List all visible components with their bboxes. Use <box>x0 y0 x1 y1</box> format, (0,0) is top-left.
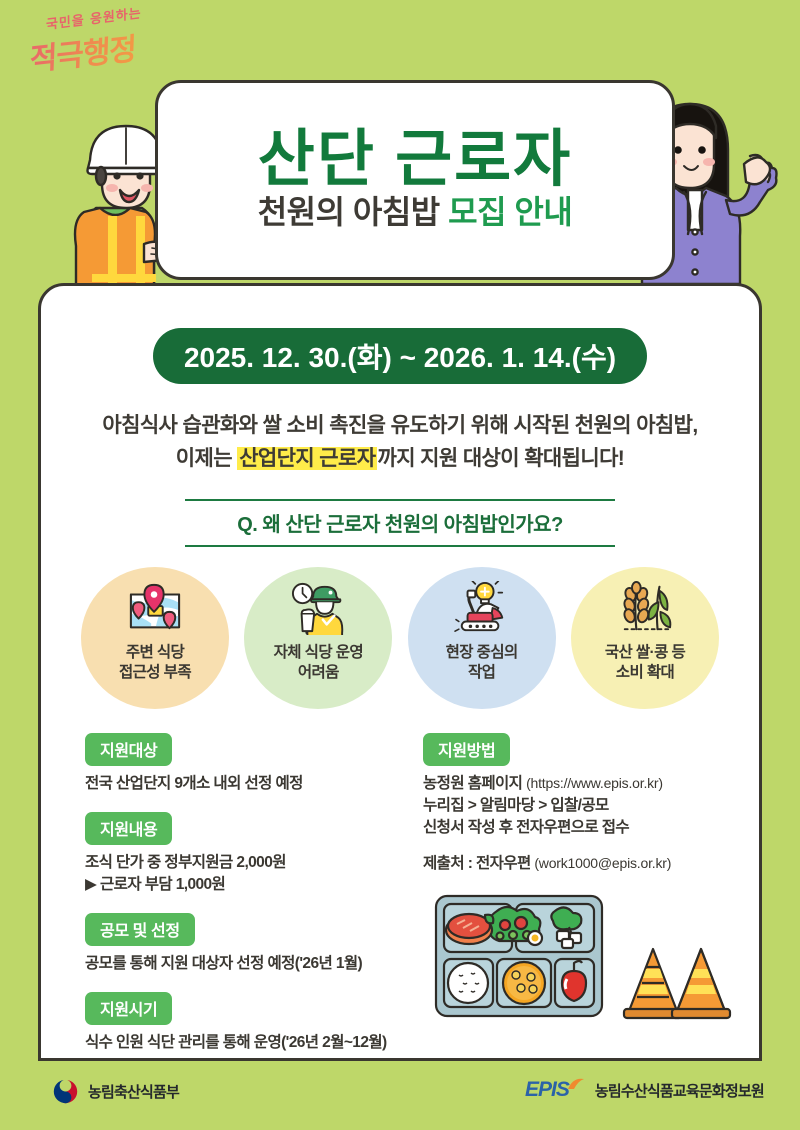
reason-label: 자체 식당 운영 어려움 <box>274 643 363 683</box>
poster-root: 국민을 응원하는 적극행정 <box>0 0 800 1130</box>
info-text-target: 전국 산업단지 9개소 내외 선정 예정 <box>85 773 401 795</box>
info-block-selection: 공모 및 선정 공모를 통해 지원 대상자 선정 예정('26년 1월) <box>85 913 401 975</box>
reason-label-line1: 주변 식당 <box>126 644 184 661</box>
info-line: 식수 인원 식단 관리를 통해 운영('26년 2월~12월) <box>85 1032 401 1054</box>
info-line: 조식 단가 중 정부지원금 2,000원 <box>85 852 401 874</box>
reason-label: 현장 중심의 작업 <box>446 643 518 683</box>
badge-target: 지원대상 <box>85 733 172 766</box>
epis-org-name: 농림수산식품교육문화정보원 <box>595 1080 764 1101</box>
reason-label: 주변 식당 접근성 부족 <box>119 643 191 683</box>
info-line: ▶ 근로자 부담 1,000원 <box>85 874 401 896</box>
info-text-content: 조식 단가 중 정부지원금 2,000원 ▶ 근로자 부담 1,000원 <box>85 852 401 896</box>
info-columns: 지원대상 전국 산업단지 9개소 내외 선정 예정 지원내용 조식 단가 중 정… <box>71 733 729 1071</box>
reason-label-line2: 소비 확대 <box>616 664 674 681</box>
badge-schedule: 지원시기 <box>85 992 172 1025</box>
info-block-how-to-apply: 지원방법 농정원 홈페이지 (https://www.epis.or.kr) 누… <box>423 733 715 875</box>
apply-line-submit: 신청서 작성 후 전자우편으로 접수 <box>423 817 715 839</box>
apply-homepage-label: 농정원 홈페이지 <box>423 775 526 792</box>
lead-line2-pre: 이제는 <box>176 447 237 470</box>
subtitle-notice: 모집 안내 <box>448 194 572 230</box>
excavator-bulb-icon <box>451 579 513 637</box>
reason-label: 국산 쌀·콩 등 소비 확대 <box>605 643 685 683</box>
info-block-schedule: 지원시기 식수 인원 식단 관리를 통해 운영('26년 2월~12월) <box>85 992 401 1054</box>
info-line: 전국 산업단지 9개소 내외 선정 예정 <box>85 773 401 795</box>
reasons-row: 주변 식당 접근성 부족 <box>71 567 729 709</box>
footer-epis: EPIS 농림수산식품교육문화정보원 <box>525 1078 764 1102</box>
lead-line2-post: 까지 지원 대상이 확대됩니다! <box>377 447 624 470</box>
map-pin-icon <box>124 579 186 637</box>
apply-line-path: 누리집 > 알림마당 > 입찰/공모 <box>423 795 715 817</box>
apply-line-email: 제출처 : 전자우편 (work1000@epis.or.kr) <box>423 853 715 875</box>
info-text-selection: 공모를 통해 지원 대상자 선정 예정('26년 1월) <box>85 953 401 975</box>
footer-ministry: 농림축산식품부 <box>52 1078 179 1105</box>
reason-label-line2: 작업 <box>468 664 495 681</box>
korea-government-taegeuk-icon <box>52 1078 79 1105</box>
worker-clock-icon <box>287 579 349 637</box>
reason-label-line1: 자체 식당 운영 <box>274 644 363 661</box>
reason-item-restaurant-access: 주변 식당 접근성 부족 <box>81 567 229 709</box>
lead-line-2: 이제는 산업단지 근로자까지 지원 대상이 확대됩니다! <box>71 443 729 476</box>
info-block-content: 지원내용 조식 단가 중 정부지원금 2,000원 ▶ 근로자 부담 1,000… <box>85 812 401 896</box>
traffic-cones-illustration <box>621 941 739 1023</box>
grain-icon <box>614 579 676 637</box>
ministry-name: 농림축산식품부 <box>88 1081 179 1102</box>
info-text-how-to-apply: 농정원 홈페이지 (https://www.epis.or.kr) 누리집 > … <box>423 773 715 875</box>
info-block-target: 지원대상 전국 산업단지 9개소 내외 선정 예정 <box>85 733 401 795</box>
lead-highlight: 산업단지 근로자 <box>237 447 377 470</box>
lead-line-1: 아침식사 습관화와 쌀 소비 촉진을 유도하기 위해 시작된 천원의 아침밥, <box>71 410 729 443</box>
info-line: 공모를 통해 지원 대상자 선정 예정('26년 1월) <box>85 953 401 975</box>
lunch-tray-illustration <box>433 893 605 1019</box>
apply-line-homepage: 농정원 홈페이지 (https://www.epis.or.kr) <box>423 773 715 795</box>
epis-swoosh-icon <box>567 1077 585 1091</box>
page-subtitle: 천원의 아침밥 모집 안내 <box>258 195 573 230</box>
apply-email-label: 제출처 : 전자우편 <box>423 855 534 872</box>
badge-how-to-apply: 지원방법 <box>423 733 510 766</box>
info-column-right: 지원방법 농정원 홈페이지 (https://www.epis.or.kr) 누… <box>423 733 715 1071</box>
reason-item-cafeteria-difficulty: 자체 식당 운영 어려움 <box>244 567 392 709</box>
page-title: 산단 근로자 <box>258 129 572 191</box>
question-heading: Q. 왜 산단 근로자 천원의 아침밥인가요? <box>185 499 615 547</box>
info-text-schedule: 식수 인원 식단 관리를 통해 운영('26년 2월~12월) <box>85 1032 401 1054</box>
badge-selection: 공모 및 선정 <box>85 913 195 946</box>
reason-label-line2: 어려움 <box>298 664 339 681</box>
epis-logo: EPIS <box>525 1078 569 1102</box>
lead-paragraph: 아침식사 습관화와 쌀 소비 촉진을 유도하기 위해 시작된 천원의 아침밥, … <box>71 410 729 475</box>
apply-homepage-url[interactable]: (https://www.epis.or.kr) <box>526 775 663 791</box>
subtitle-program: 천원의 아침밥 <box>258 194 440 230</box>
brand-logo: 국민을 응원하는 적극행정 <box>30 14 160 86</box>
reason-label-line1: 국산 쌀·콩 등 <box>605 644 685 661</box>
info-column-left: 지원대상 전국 산업단지 9개소 내외 선정 예정 지원내용 조식 단가 중 정… <box>85 733 401 1071</box>
apply-email-address[interactable]: (work1000@epis.or.kr) <box>534 855 671 871</box>
main-content-card: 2025. 12. 30.(화) ~ 2026. 1. 14.(수) 아침식사 … <box>38 283 762 1061</box>
application-period-banner: 2025. 12. 30.(화) ~ 2026. 1. 14.(수) <box>153 328 647 384</box>
badge-content: 지원내용 <box>85 812 172 845</box>
reason-item-field-work: 현장 중심의 작업 <box>408 567 556 709</box>
reason-item-domestic-consumption: 국산 쌀·콩 등 소비 확대 <box>571 567 719 709</box>
reason-label-line1: 현장 중심의 <box>446 644 518 661</box>
reason-label-line2: 접근성 부족 <box>119 664 191 681</box>
title-card: 산단 근로자 천원의 아침밥 모집 안내 <box>155 80 675 280</box>
